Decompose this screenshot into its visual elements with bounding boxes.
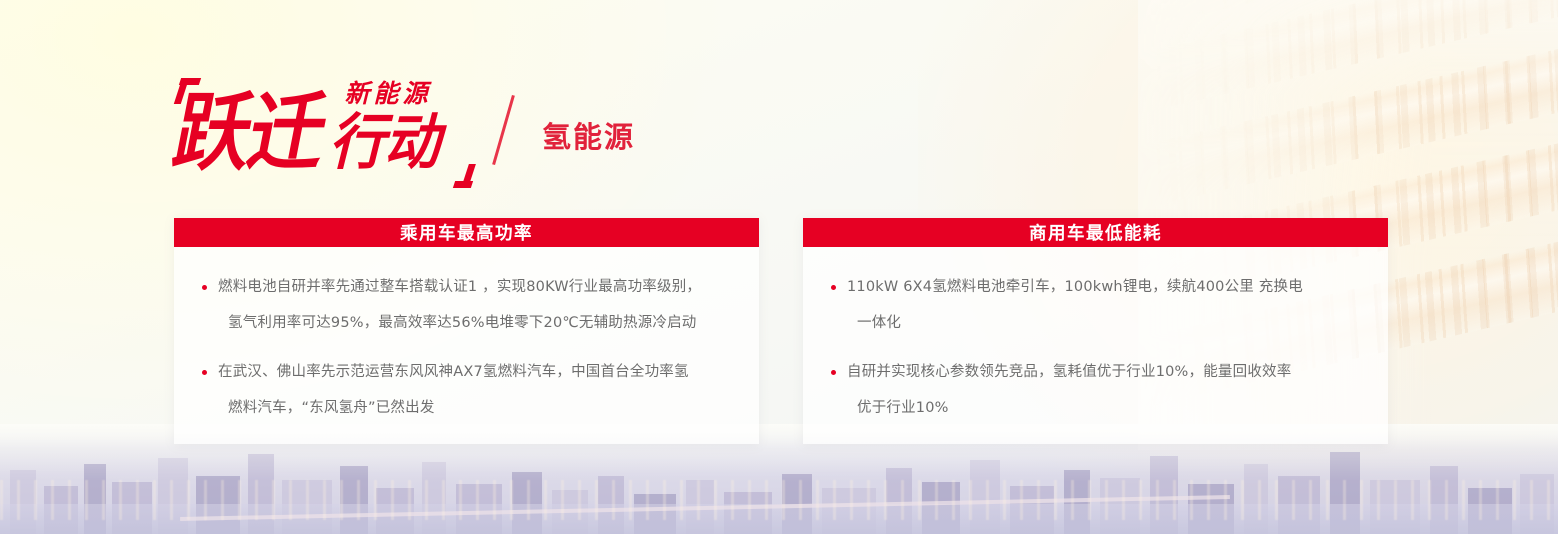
cards-container: 乘用车最高功率 燃料电池自研并率先通过整车搭载认证1 ，实现80KW行业最高功率…	[174, 218, 1388, 444]
bullet-line: 自研并实现核心参数领先竞品，氢耗值优于行业10%，能量回收效率	[847, 354, 1358, 390]
brand-main-text: 跃迁	[166, 80, 334, 185]
card-header-title: 乘用车最高功率	[174, 218, 759, 247]
list-item: 燃料电池自研并率先通过整车搭载认证1 ，实现80KW行业最高功率级别， 氢气利用…	[200, 269, 729, 341]
list-item: 自研并实现核心参数领先竞品，氢耗值优于行业10%，能量回收效率 优于行业10%	[829, 354, 1358, 426]
bullet-line: 氢气利用率可达95%，最高效率达56%电堆零下20℃无辅助热源冷启动	[218, 305, 729, 341]
brand-action-text: 行动	[325, 110, 452, 177]
card-passenger-vehicle: 乘用车最高功率 燃料电池自研并率先通过整车搭载认证1 ，实现80KW行业最高功率…	[174, 218, 759, 444]
card-header-title: 商用车最低能耗	[803, 218, 1388, 247]
list-item: 在武汉、佛山率先示范运营东风风神AX7氢燃料汽车，中国首台全功率氢 燃料汽车，“…	[200, 354, 729, 426]
bullet-line: 燃料汽车，“东风氢舟”已然出发	[218, 390, 729, 426]
bracket-close-icon	[454, 162, 478, 188]
bullet-dot-icon	[831, 370, 836, 375]
brand-logo: 跃迁 新能源 行动 氢能源	[172, 74, 812, 182]
bullet-line: 110kW 6X4氢燃料电池牵引车，100kwh锂电，续航400公里 充换电	[847, 269, 1358, 305]
card-body: 110kW 6X4氢燃料电池牵引车，100kwh锂电，续航400公里 充换电 一…	[803, 247, 1388, 444]
bullet-line: 一体化	[847, 305, 1358, 341]
bullet-line: 在武汉、佛山率先示范运营东风风神AX7氢燃料汽车，中国首台全功率氢	[218, 354, 729, 390]
list-item: 110kW 6X4氢燃料电池牵引车，100kwh锂电，续航400公里 充换电 一…	[829, 269, 1358, 341]
bullet-dot-icon	[202, 370, 207, 375]
slash-divider-icon	[492, 95, 515, 165]
brand-sub-text: 新能源	[343, 80, 437, 108]
card-commercial-vehicle: 商用车最低能耗 110kW 6X4氢燃料电池牵引车，100kwh锂电，续航400…	[803, 218, 1388, 444]
bullet-line: 燃料电池自研并率先通过整车搭载认证1 ，实现80KW行业最高功率级别，	[218, 269, 729, 305]
brand-lockup: 跃迁 新能源 行动	[172, 74, 472, 182]
bullet-dot-icon	[831, 285, 836, 290]
card-body: 燃料电池自研并率先通过整车搭载认证1 ，实现80KW行业最高功率级别， 氢气利用…	[174, 247, 759, 444]
bullet-line: 优于行业10%	[847, 390, 1358, 426]
banner-stage: 跃迁 新能源 行动 氢能源 乘用车最高功率 燃料电池自研并率先通过整车搭载认证1…	[0, 0, 1558, 534]
sub-brand-label: 氢能源	[542, 114, 635, 156]
bullet-dot-icon	[202, 285, 207, 290]
